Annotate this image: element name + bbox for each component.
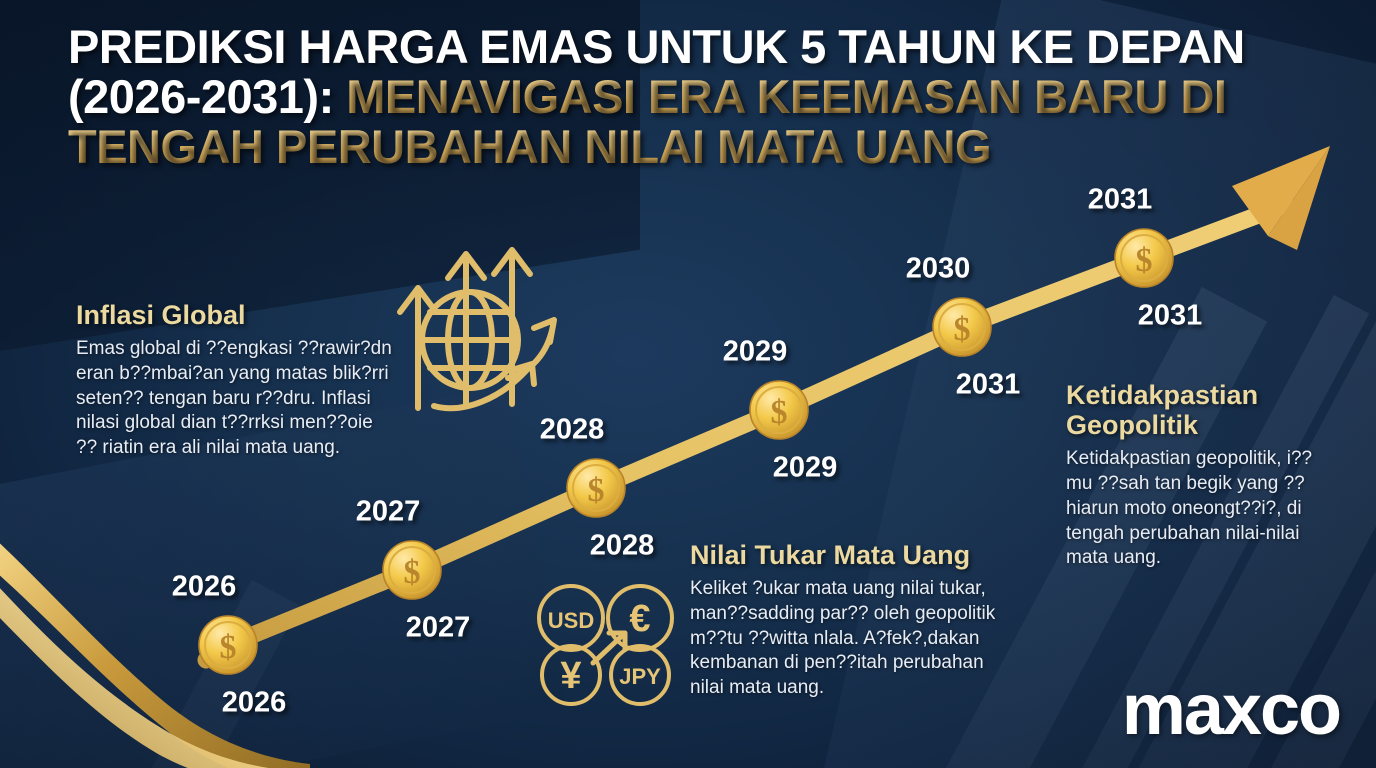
section-body-inflasi: Emas global di ??engkasi ??rawir?dn eran… [76, 337, 394, 460]
section-ketidakpastian-geopolitik: Ketidakpastian Geopolitik Ketidakpastian… [1066, 380, 1334, 571]
timeline-year-label-above-2026: 2026 [172, 571, 237, 604]
gold-coin-icon: $ [1113, 227, 1175, 289]
timeline-year-label-below-2026: 2026 [222, 687, 287, 720]
gold-ribbon-decoration [0, 528, 310, 768]
currency-label-usd: USD [548, 608, 594, 633]
timeline-year-label-below-2027: 2027 [406, 612, 471, 645]
timeline-year-label-above-2028: 2028 [540, 414, 605, 447]
currency-exchange-icon: USD € ¥ JPY [533, 583, 679, 707]
headline-line-3: TENGAH PERUBAHAN NILAI MATA UANG [68, 122, 1338, 172]
svg-text:$: $ [404, 554, 421, 591]
maxco-logo: maxco [1122, 674, 1340, 746]
timeline-year-label-above-2030: 2030 [906, 253, 971, 286]
currency-label-jpy: JPY [619, 664, 661, 689]
background-stripe [55, 580, 300, 768]
gold-coin-icon: $ [197, 614, 259, 676]
svg-text:$: $ [1136, 242, 1153, 279]
headline-line-2: (2026-2031): MENAVIGASI ERA KEEMASAN BAR… [68, 72, 1338, 122]
section-body-nilai-tukar: Keliket ?ukar mata uang nilai tukar, man… [690, 577, 1020, 700]
gold-coin-icon: $ [381, 539, 443, 601]
timeline-year-label-below-2031: 2031 [956, 369, 1021, 402]
timeline-year-label-below-2028: 2028 [590, 530, 655, 563]
globe-growth-icon [392, 228, 578, 414]
timeline-coin-2029: $ [748, 379, 810, 441]
timeline-year-label-below-2031: 2031 [1138, 300, 1203, 333]
timeline-coin-2026: $ [197, 614, 259, 676]
section-body-geopolitik: Ketidakpastian geopolitik, i??mu ??sah t… [1066, 447, 1334, 570]
svg-text:$: $ [220, 629, 237, 666]
timeline-coin-2030: $ [931, 296, 993, 358]
section-inflasi-global: Inflasi Global Emas global di ??engkasi … [76, 300, 394, 461]
timeline-year-label-above-2029: 2029 [723, 336, 788, 369]
section-nilai-tukar: Nilai Tukar Mata Uang Keliket ?ukar mata… [690, 540, 1020, 701]
gold-coin-icon: $ [931, 296, 993, 358]
section-title-geopolitik: Ketidakpastian Geopolitik [1066, 380, 1334, 440]
svg-text:$: $ [588, 472, 605, 509]
timeline-year-label-above-2031: 2031 [1088, 184, 1153, 217]
timeline-coin-2031: $ [1113, 227, 1175, 289]
timeline-coin-2028: $ [565, 457, 627, 519]
gold-coin-icon: $ [565, 457, 627, 519]
page-title: PREDIKSI HARGA EMAS UNTUK 5 TAHUN KE DEP… [68, 22, 1338, 171]
timeline-coin-2027: $ [381, 539, 443, 601]
section-title-inflasi: Inflasi Global [76, 300, 394, 330]
headline-line-2-white: (2026-2031): [68, 70, 334, 123]
timeline-year-label-below-2029: 2029 [773, 452, 838, 485]
headline-line-1: PREDIKSI HARGA EMAS UNTUK 5 TAHUN KE DEP… [68, 22, 1338, 72]
svg-text:$: $ [771, 394, 788, 431]
svg-text:$: $ [954, 311, 971, 348]
infographic-canvas: PREDIKSI HARGA EMAS UNTUK 5 TAHUN KE DEP… [0, 0, 1376, 768]
currency-label-jpy-symbol: ¥ [560, 655, 581, 697]
section-title-nilai-tukar: Nilai Tukar Mata Uang [690, 540, 1020, 570]
headline-line-2-gold: MENAVIGASI ERA KEEMASAN BARU DI [346, 70, 1226, 123]
currency-label-eur: € [629, 598, 650, 640]
gold-coin-icon: $ [748, 379, 810, 441]
timeline-year-label-above-2027: 2027 [356, 496, 421, 529]
